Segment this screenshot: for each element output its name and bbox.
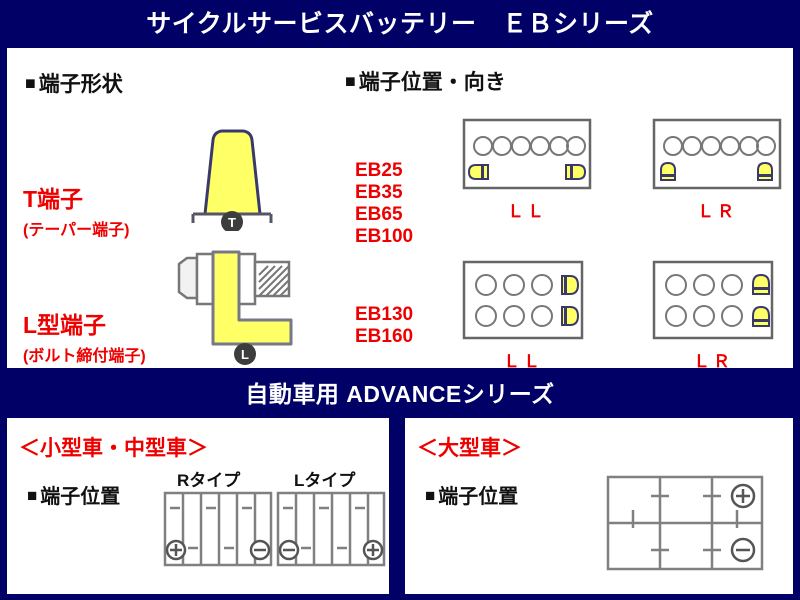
l-terminal-label-group: L型端子 (ボルト締付端子): [23, 306, 146, 366]
t-terminal-name: T端子: [23, 180, 130, 214]
model-name: EB35: [355, 182, 413, 204]
battery-diagram-lr-6cell: [652, 118, 782, 190]
battery-caption-ll: ＬＬ: [462, 197, 592, 222]
header-advance-series-title: 自動車用 ADVANCEシリーズ: [245, 375, 554, 409]
l-terminal-badge-text: L: [241, 347, 249, 362]
model-name: EB160: [355, 326, 413, 348]
r-type-label: Rタイプ: [177, 466, 240, 491]
t-terminal-badge-text: T: [228, 215, 236, 230]
l-terminal-name: L型端子: [23, 306, 146, 340]
large-car-caption: ＜大型車＞: [417, 432, 522, 462]
small-mid-car-panel: ＜小型車・中型車＞ 端子位置 Rタイプ Lタイプ: [7, 418, 389, 594]
model-name: EB25: [355, 160, 413, 182]
battery-diagram-ll-6cell: [462, 118, 592, 190]
large-terminal-position-heading: 端子位置: [425, 480, 518, 509]
battery-diagram-lr-2x3: [652, 260, 774, 340]
battery-diagram-r-type: [162, 490, 274, 568]
battery-diagram-l-type: [275, 490, 387, 568]
eb-series-panel: 端子形状 T端子 (テーパー端子) T L型端子 (ボルト締付端子): [7, 48, 793, 368]
terminal-shape-heading: 端子形状: [25, 68, 123, 98]
t-terminal-sub: (テーパー端子): [23, 216, 130, 240]
diagram-page: サイクルサービスバッテリー ＥＢシリーズ 端子形状 T端子 (テーパー端子) T…: [0, 0, 800, 600]
battery-eb130-lr: ＬＲ: [652, 260, 774, 372]
small-mid-terminal-position-heading: 端子位置: [27, 480, 120, 509]
model-name: EB130: [355, 304, 413, 326]
t-terminal-label-group: T端子 (テーパー端子): [23, 180, 130, 240]
model-list-row2: EB130 EB160: [355, 304, 413, 348]
model-name: EB65: [355, 204, 413, 226]
battery-caption-lr: ＬＲ: [652, 197, 782, 222]
battery-caption-lr: ＬＲ: [652, 347, 774, 372]
battery-caption-ll: ＬＬ: [462, 347, 584, 372]
l-type-label: Lタイプ: [294, 466, 355, 491]
t-terminal-illustration: T: [175, 116, 285, 231]
large-car-panel: ＜大型車＞ 端子位置: [405, 418, 793, 594]
l-terminal-sub: (ボルト締付端子): [23, 342, 146, 366]
l-terminal-illustration: L: [167, 248, 297, 366]
battery-eb130-ll: ＬＬ: [462, 260, 584, 372]
terminal-position-heading: 端子位置・向き: [345, 66, 506, 96]
battery-diagram-large: [605, 474, 765, 572]
model-name: EB100: [355, 226, 413, 248]
battery-eb25-lr: ＬＲ: [652, 118, 782, 222]
header-eb-series-title: サイクルサービスバッテリー ＥＢシリーズ: [146, 4, 654, 40]
header-eb-series: サイクルサービスバッテリー ＥＢシリーズ: [0, 0, 800, 44]
model-list-row1: EB25 EB35 EB65 EB100: [355, 160, 413, 248]
battery-diagram-ll-2x3: [462, 260, 584, 340]
battery-eb25-ll: ＬＬ: [462, 118, 592, 222]
small-mid-car-caption: ＜小型車・中型車＞: [19, 432, 208, 462]
header-advance-series: 自動車用 ADVANCEシリーズ: [0, 372, 800, 412]
